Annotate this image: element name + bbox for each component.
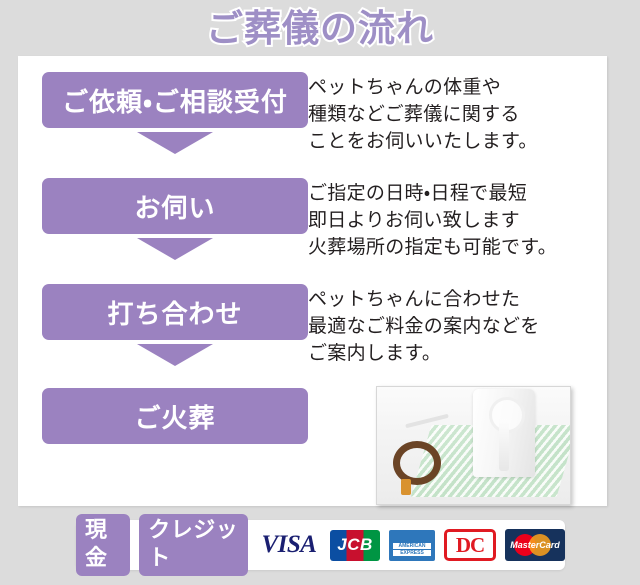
page-title: ご葬儀の流れ xyxy=(0,6,640,52)
photo-image xyxy=(377,387,570,504)
arrow-down-icon-3 xyxy=(42,340,308,370)
description-line: 即日よりお伺い致します xyxy=(308,207,599,234)
payment-badge-credit: クレジット xyxy=(139,514,248,576)
cremation-photo xyxy=(376,386,571,505)
description-line: 種類などご葬儀に関する xyxy=(308,101,599,128)
payment-methods-bar: 現金 クレジット VISA JCB AMERICAN EXPRESS DC Ma… xyxy=(76,520,565,570)
description-line: ご指定の日時・日程で最短 xyxy=(308,180,599,207)
visa-icon: VISA xyxy=(257,532,321,558)
flow-card: ご依頼・ご相談受付 ペットちゃんの体重や 種類などご葬儀に関する ことをお伺いい… xyxy=(18,56,607,506)
step-box-2[interactable]: お伺い xyxy=(42,178,308,234)
step-box-4[interactable]: ご火葬 xyxy=(42,388,308,444)
dc-label: DC xyxy=(447,532,493,558)
amex-label-line1: AMERICAN xyxy=(393,543,431,549)
step-description-2: ご指定の日時・日程で最短 即日よりお伺い致します 火葬場所の指定も可能です。 xyxy=(308,178,607,261)
photo-urn xyxy=(473,389,535,477)
payment-badge-cash: 現金 xyxy=(76,514,130,576)
description-line: ことをお伺いいたします。 xyxy=(308,128,599,155)
flow-step-row: お伺い ご指定の日時・日程で最短 即日よりお伺い致します 火葬場所の指定も可能で… xyxy=(18,178,607,264)
amex-label-line2: EXPRESS xyxy=(393,550,431,556)
flow-step-row: ご依頼・ご相談受付 ペットちゃんの体重や 種類などご葬儀に関する ことをお伺いい… xyxy=(18,72,607,158)
description-line: 火葬場所の指定も可能です。 xyxy=(308,234,599,261)
step-box-1[interactable]: ご依頼・ご相談受付 xyxy=(42,72,308,128)
step-column: ご火葬 xyxy=(18,388,308,444)
photo-prayer-beads xyxy=(393,441,441,485)
step-box-3[interactable]: 打ち合わせ xyxy=(42,284,308,340)
mastercard-icon: MasterCard xyxy=(505,529,565,561)
description-line: 最適なご料金の案内などを xyxy=(308,313,599,340)
step-column: 打ち合わせ xyxy=(18,284,308,370)
jcb-label: JCB xyxy=(330,530,380,561)
step-column: ご依頼・ご相談受付 xyxy=(18,72,308,158)
description-line: ご案内します。 xyxy=(308,340,599,367)
description-line: ペットちゃんに合わせた xyxy=(308,286,599,313)
photo-tassel xyxy=(401,479,411,495)
dc-card-icon: DC xyxy=(444,529,496,561)
step-description-3: ペットちゃんに合わせた 最適なご料金の案内などを ご案内します。 xyxy=(308,284,607,367)
step-column: お伺い xyxy=(18,178,308,264)
jcb-icon: JCB xyxy=(330,530,380,561)
mastercard-label: MasterCard xyxy=(505,529,565,561)
description-line: ペットちゃんの体重や xyxy=(308,74,599,101)
arrow-down-icon-2 xyxy=(42,234,308,264)
arrow-down-icon-1 xyxy=(42,128,308,158)
flow-step-row: 打ち合わせ ペットちゃんに合わせた 最適なご料金の案内などを ご案内します。 xyxy=(18,284,607,370)
american-express-icon: AMERICAN EXPRESS xyxy=(389,530,435,561)
step-description-1: ペットちゃんの体重や 種類などご葬儀に関する ことをお伺いいたします。 xyxy=(308,72,607,155)
